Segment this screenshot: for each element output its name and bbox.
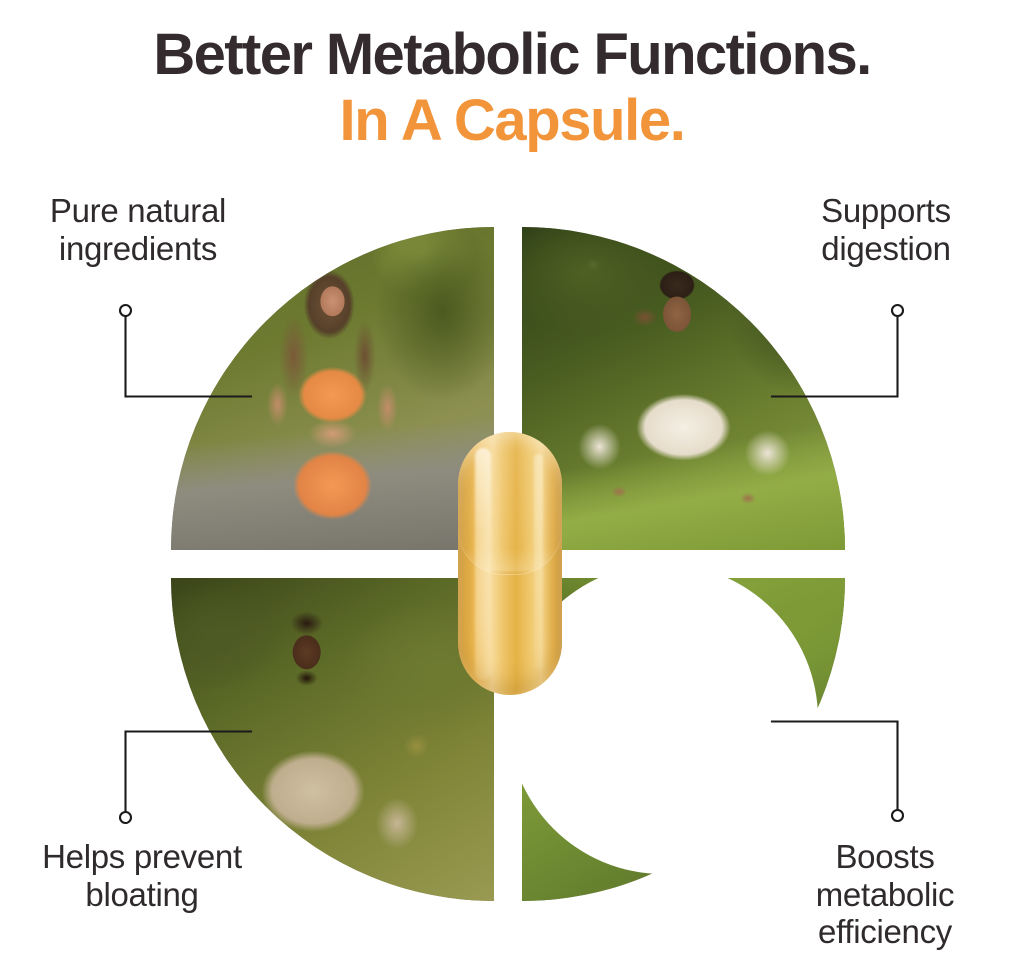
callout-label-pure-natural-ingredients: Pure natural ingredients — [8, 192, 268, 267]
callout-line: Pure natural — [50, 192, 226, 229]
headline-line-1: Better Metabolic Functions. — [0, 25, 1024, 84]
callout-line: Supports — [821, 192, 951, 229]
callout-label-supports-digestion: Supports digestion — [756, 192, 1016, 267]
page-title: Better Metabolic Functions. In A Capsule… — [0, 25, 1024, 149]
capsule-cap-seam — [458, 432, 562, 574]
quadrant-top-right: Man in cream sweatshirt meditating outdo… — [522, 227, 845, 550]
callout-label-boosts-metabolic-efficiency: Boosts metabolic efficiency — [752, 838, 1018, 951]
circle-endpoint-icon — [120, 305, 131, 316]
woman-jogging-photo — [171, 227, 494, 550]
callout-line: ingredients — [59, 230, 217, 267]
headline-line-2: In A Capsule. — [0, 91, 1024, 150]
capsule-highlight-primary — [475, 448, 491, 680]
callout-line: efficiency — [818, 913, 952, 950]
circle-endpoint-icon — [892, 810, 903, 821]
callout-label-helps-prevent-bloating: Helps prevent bloating — [0, 838, 284, 913]
circle-endpoint-icon — [892, 305, 903, 316]
capsule-icon: Golden amber two-piece supplement capsul… — [458, 432, 562, 695]
callout-line: Boosts — [835, 838, 934, 875]
metabolic-capsule-infographic: { "headline": { "line1": "Better Metabol… — [0, 0, 1024, 980]
callout-line: metabolic — [816, 876, 955, 913]
capsule-highlight-secondary — [534, 454, 543, 670]
circle-endpoint-icon — [120, 812, 131, 823]
man-meditating-photo — [522, 227, 845, 550]
quadrant-top-left: Woman in orange activewear jogging on a … — [171, 227, 494, 550]
callout-line: bloating — [85, 876, 198, 913]
callout-line: digestion — [821, 230, 950, 267]
callout-line: Helps prevent — [42, 838, 242, 875]
